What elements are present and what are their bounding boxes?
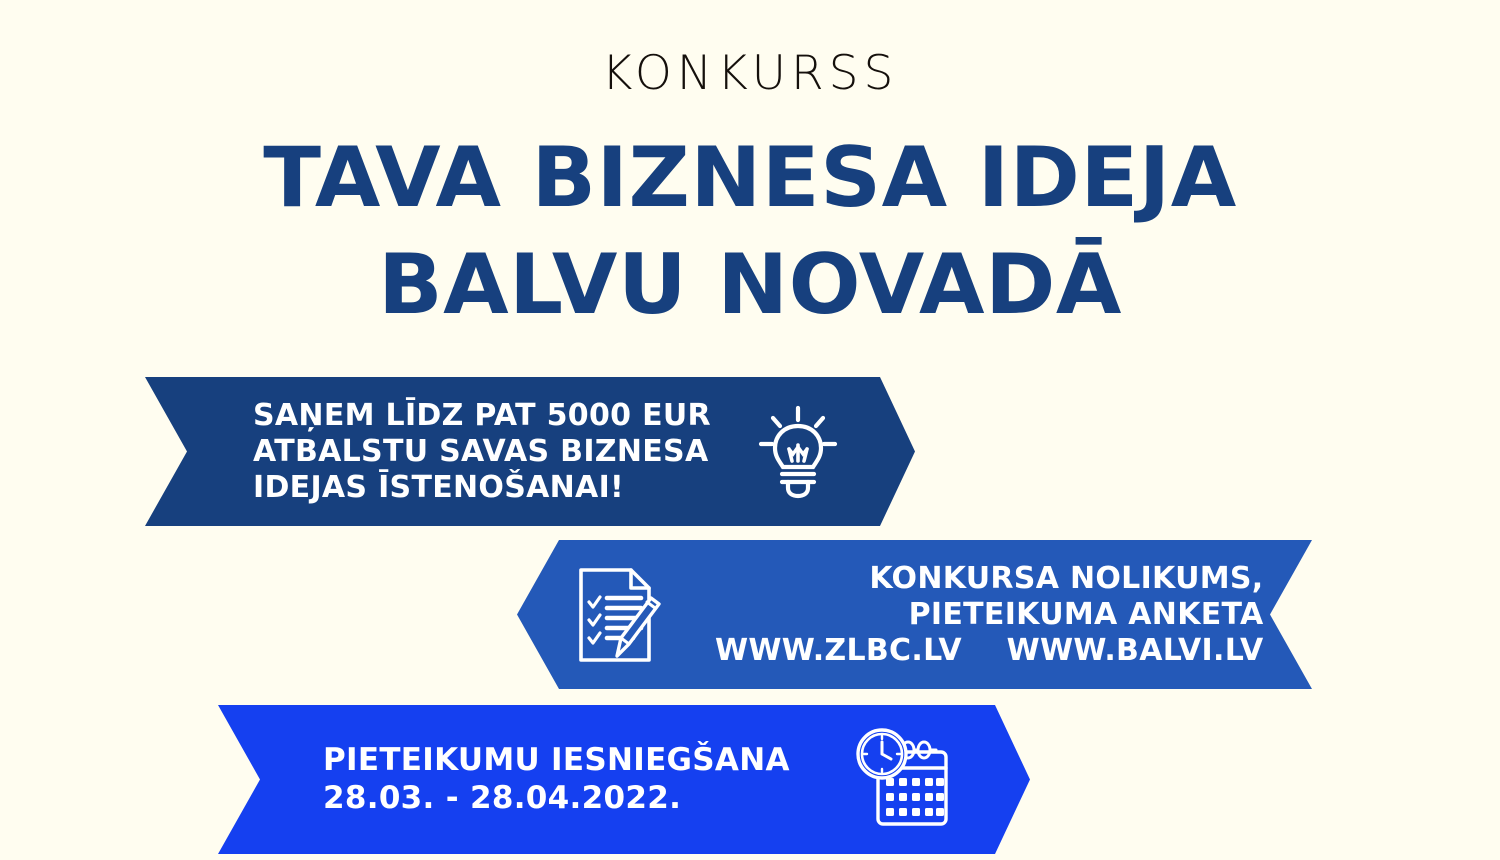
poster-canvas: KONKURSS TAVA BIZNESA IDEJA BALVU NOVADĀ… bbox=[0, 0, 1500, 860]
rules-banner-urls: WWW.ZLBC.LV WWW.BALVI.LV bbox=[715, 633, 1264, 669]
checklist-pencil-icon bbox=[573, 564, 663, 666]
url-zlbc[interactable]: WWW.ZLBC.LV bbox=[715, 633, 962, 668]
rules-banner: KONKURSA NOLIKUMS, PIETEIKUMA ANKETA WWW… bbox=[517, 540, 1312, 689]
deadline-banner-line-1: PIETEIKUMU IESNIEGŠANA bbox=[323, 742, 790, 779]
url-balvi[interactable]: WWW.BALVI.LV bbox=[1007, 633, 1264, 668]
rules-banner-line-1: KONKURSA NOLIKUMS, bbox=[715, 561, 1264, 597]
page-title-line-2: BALVU NOVADĀ bbox=[0, 243, 1500, 326]
deadline-banner: PIETEIKUMU IESNIEGŠANA 28.03. - 28.04.20… bbox=[218, 705, 1030, 854]
prize-banner-line-1: SAŅEM LĪDZ PAT 5000 EUR bbox=[253, 398, 711, 434]
kicker-label: KONKURSS bbox=[0, 50, 1500, 97]
page-title-line-1: TAVA BIZNESA IDEJA bbox=[0, 136, 1500, 219]
calendar-clock-icon bbox=[852, 728, 952, 832]
prize-banner-text: SAŅEM LĪDZ PAT 5000 EUR ATBALSTU SAVAS B… bbox=[253, 398, 711, 506]
deadline-banner-line-2: 28.03. - 28.04.2022. bbox=[323, 780, 790, 817]
lightbulb-icon bbox=[755, 404, 841, 500]
prize-banner-line-2: ATBALSTU SAVAS BIZNESA bbox=[253, 434, 711, 470]
rules-banner-text: KONKURSA NOLIKUMS, PIETEIKUMA ANKETA WWW… bbox=[715, 561, 1264, 669]
rules-banner-line-2: PIETEIKUMA ANKETA bbox=[715, 597, 1264, 633]
prize-banner: SAŅEM LĪDZ PAT 5000 EUR ATBALSTU SAVAS B… bbox=[145, 377, 915, 526]
prize-banner-line-3: IDEJAS ĪSTENOŠANAI! bbox=[253, 470, 711, 506]
deadline-banner-text: PIETEIKUMU IESNIEGŠANA 28.03. - 28.04.20… bbox=[323, 742, 790, 816]
